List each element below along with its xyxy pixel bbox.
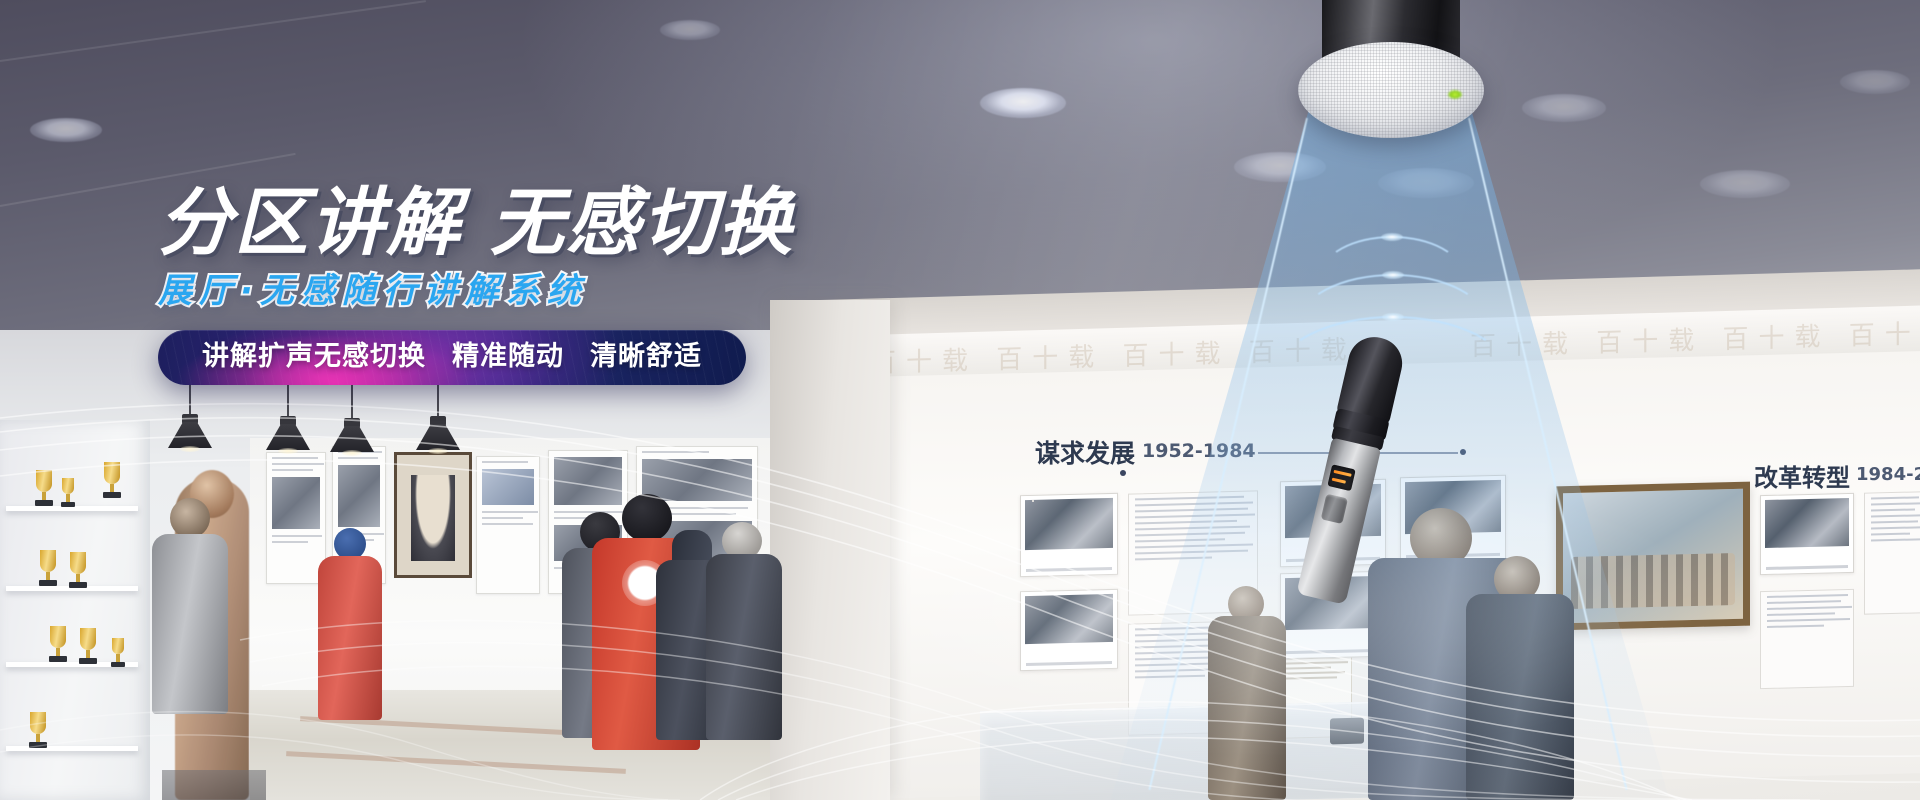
downlight-icon xyxy=(1700,170,1790,198)
feature-3: 清晰舒适 xyxy=(590,341,702,372)
trophy-icon xyxy=(80,628,96,664)
exhibit-panel xyxy=(476,456,540,594)
trophy-icon xyxy=(30,712,46,748)
exhibit-text-card xyxy=(1760,589,1854,689)
visitor-head xyxy=(622,494,672,542)
trophy-icon xyxy=(70,552,86,588)
hero-banner: 百十载 百十载 百十载 百十载 百十载 百十载 百十载 百十载 谋求发展 195… xyxy=(0,0,1920,800)
downlight-icon xyxy=(1840,70,1910,94)
ceiling-speaker-device xyxy=(1298,0,1484,144)
headline-part-1: 分区讲解 xyxy=(158,180,462,266)
page-subtitle: 展厅·无感随行讲解系统 xyxy=(158,274,1078,308)
downlight-icon xyxy=(980,88,1066,118)
feature-2: 精准随动 xyxy=(452,341,564,372)
exhibit-section-title-1: 谋求发展 xyxy=(1035,434,1135,470)
speaker-status-led-icon xyxy=(1448,90,1462,99)
trophy-cabinet xyxy=(0,420,150,800)
trophy-shelf xyxy=(6,746,138,751)
exhibit-statue-plinth xyxy=(162,770,266,800)
feature-1: 讲解扩声无感切换 xyxy=(202,341,426,372)
exhibit-text-card xyxy=(1032,500,1034,502)
visitor-body xyxy=(706,554,782,740)
hero-copy: 分区讲解无感切换 展厅·无感随行讲解系统 讲解扩声无感切换精准随动清晰舒适 xyxy=(158,186,1078,390)
trophy-icon xyxy=(104,462,120,498)
exhibit-section-dot xyxy=(1120,470,1126,476)
visitor-body xyxy=(318,556,382,720)
exhibit-section-years-2: 1984-2010 xyxy=(1856,464,1920,485)
exhibit-text-card xyxy=(1864,491,1920,614)
downlight-icon xyxy=(660,20,720,40)
visitor-head xyxy=(170,498,210,538)
framed-portrait xyxy=(394,452,472,578)
exhibit-section-title-2: 改革转型 xyxy=(1754,458,1850,493)
trophy-icon xyxy=(62,478,74,507)
visitor-cap xyxy=(672,530,712,564)
exhibit-photo-card xyxy=(1760,493,1854,575)
trophy-icon xyxy=(40,550,56,586)
exhibit-photo-card xyxy=(1020,493,1118,577)
trophy-icon xyxy=(50,626,66,662)
visitor-body xyxy=(152,534,228,714)
exhibit-photo-card xyxy=(1020,589,1118,671)
feature-pill-text: 讲解扩声无感切换精准随动清晰舒适 xyxy=(202,341,702,372)
trophy-icon xyxy=(112,638,124,667)
downlight-icon xyxy=(30,118,102,142)
feature-pill[interactable]: 讲解扩声无感切换精准随动清晰舒适 xyxy=(158,330,746,385)
trophy-icon xyxy=(36,470,52,506)
page-title: 分区讲解无感切换 xyxy=(158,186,1078,260)
exhibit-panel xyxy=(266,452,326,584)
headline-part-2: 无感切换 xyxy=(490,180,794,266)
downlight-icon xyxy=(1522,94,1606,122)
